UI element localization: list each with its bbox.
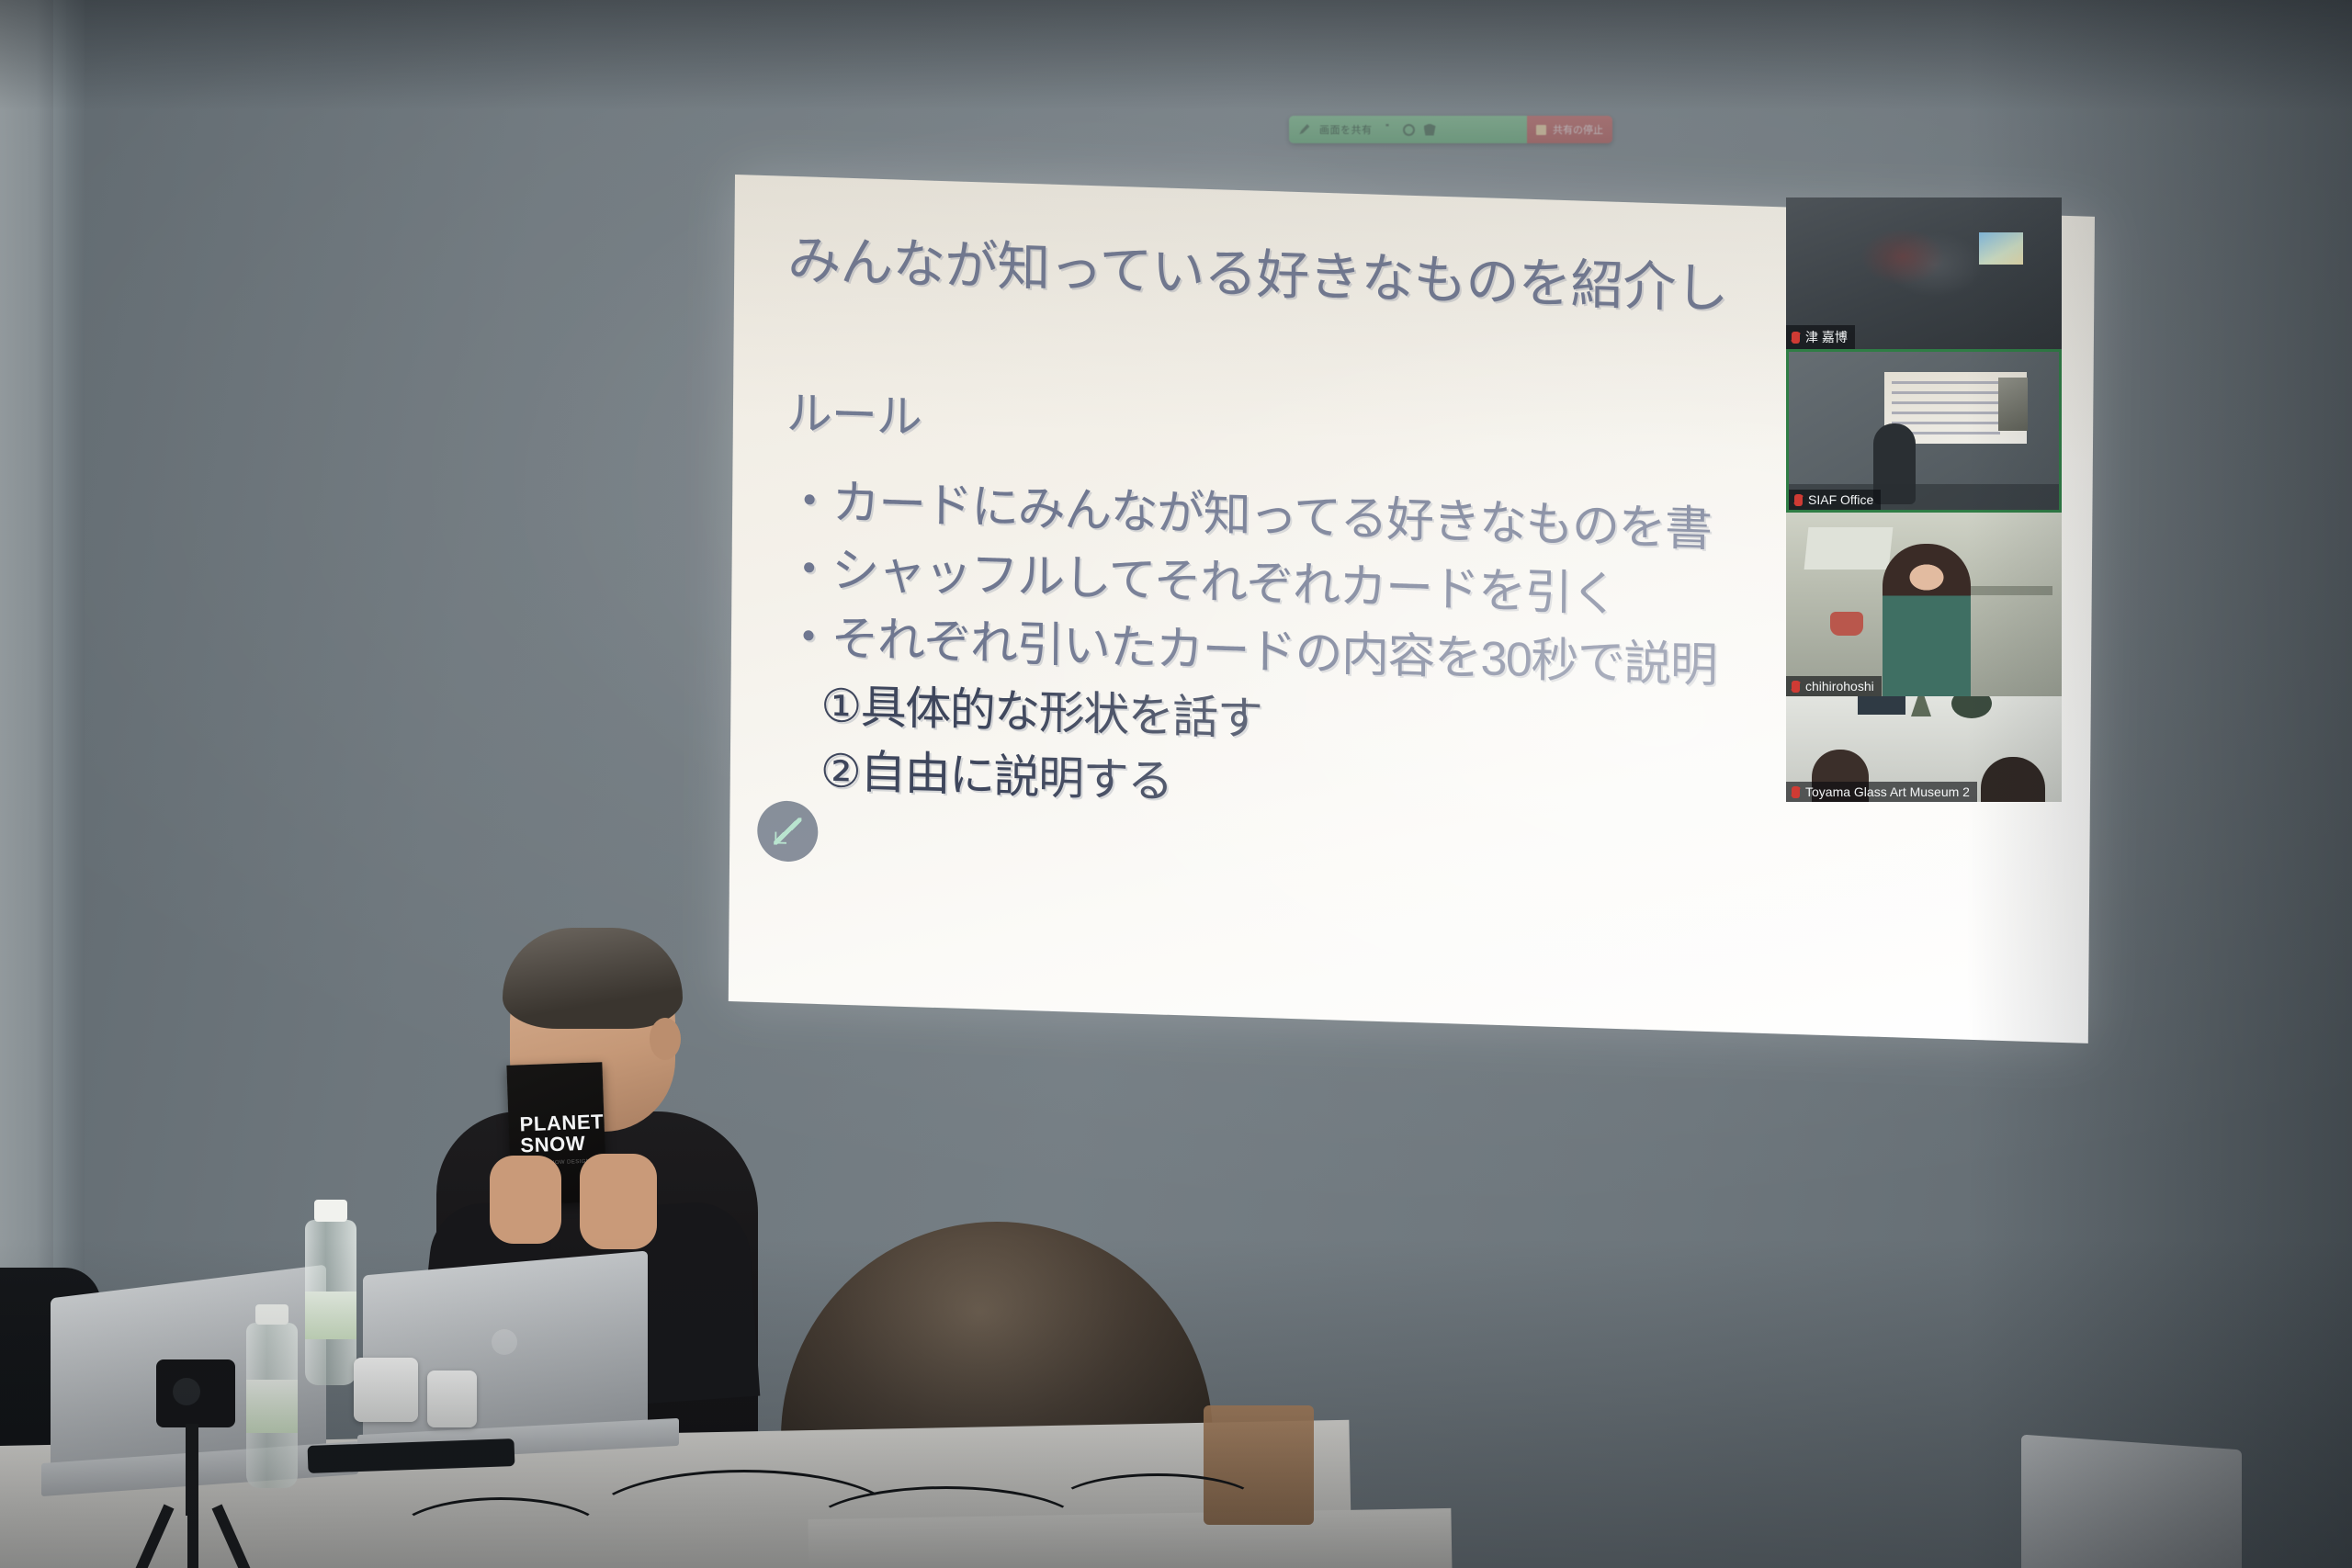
wall-left-column-shadow bbox=[53, 0, 85, 1396]
share-label: 画面を共有 bbox=[1319, 122, 1373, 137]
participant-name: chihirohoshi bbox=[1805, 679, 1874, 694]
annotate-icon[interactable] bbox=[1382, 124, 1394, 136]
pencil-icon[interactable] bbox=[1298, 124, 1310, 136]
zoom-share-toolbar[interactable]: 画面を共有 共有の停止 bbox=[1289, 116, 1612, 143]
tile-kitchen-pot bbox=[1830, 612, 1863, 636]
participant-name: Toyama Glass Art Museum 2 bbox=[1805, 784, 1970, 799]
mic-muted-icon bbox=[1792, 786, 1800, 798]
bottle-cap bbox=[314, 1200, 347, 1222]
participant-name-badge: chihirohoshi bbox=[1786, 676, 1882, 696]
photo-scene: 画面を共有 共有の停止 みんなが知っている好きなものを紹介し ルール ・カードに… bbox=[0, 0, 2352, 1568]
card-line-2: SNOW bbox=[520, 1133, 605, 1156]
bottom-vignette bbox=[0, 1237, 2352, 1568]
presenter-hair bbox=[503, 928, 683, 1029]
pencil-circle-icon[interactable] bbox=[757, 800, 819, 863]
stop-share-button[interactable]: 共有の停止 bbox=[1527, 116, 1612, 143]
tile-person bbox=[1883, 544, 1971, 696]
stop-share-label: 共有の停止 bbox=[1553, 122, 1603, 137]
presenter-right-hand bbox=[580, 1154, 657, 1249]
shield-icon[interactable] bbox=[1424, 124, 1436, 136]
participant-name-badge: 津 嘉博 bbox=[1786, 325, 1855, 349]
record-icon[interactable] bbox=[1403, 124, 1415, 136]
share-toolbar-controls[interactable]: 画面を共有 bbox=[1289, 116, 1527, 143]
tile-kitchen-hood bbox=[1804, 527, 1894, 570]
participant-name-badge: SIAF Office bbox=[1789, 490, 1881, 510]
participant-name-badge: Toyama Glass Art Museum 2 bbox=[1786, 782, 1977, 802]
mic-muted-icon bbox=[1792, 681, 1800, 693]
mic-muted-icon bbox=[1792, 332, 1800, 344]
presenter-left-hand bbox=[490, 1156, 561, 1244]
pencil-glyph bbox=[774, 817, 801, 845]
tile-artwork bbox=[1858, 696, 1905, 715]
stop-square-icon bbox=[1536, 125, 1546, 135]
mic-muted-icon bbox=[1794, 494, 1803, 506]
presenter-ear bbox=[650, 1018, 681, 1060]
participant-name: SIAF Office bbox=[1808, 492, 1873, 507]
participant-name: 津 嘉博 bbox=[1805, 328, 1848, 346]
